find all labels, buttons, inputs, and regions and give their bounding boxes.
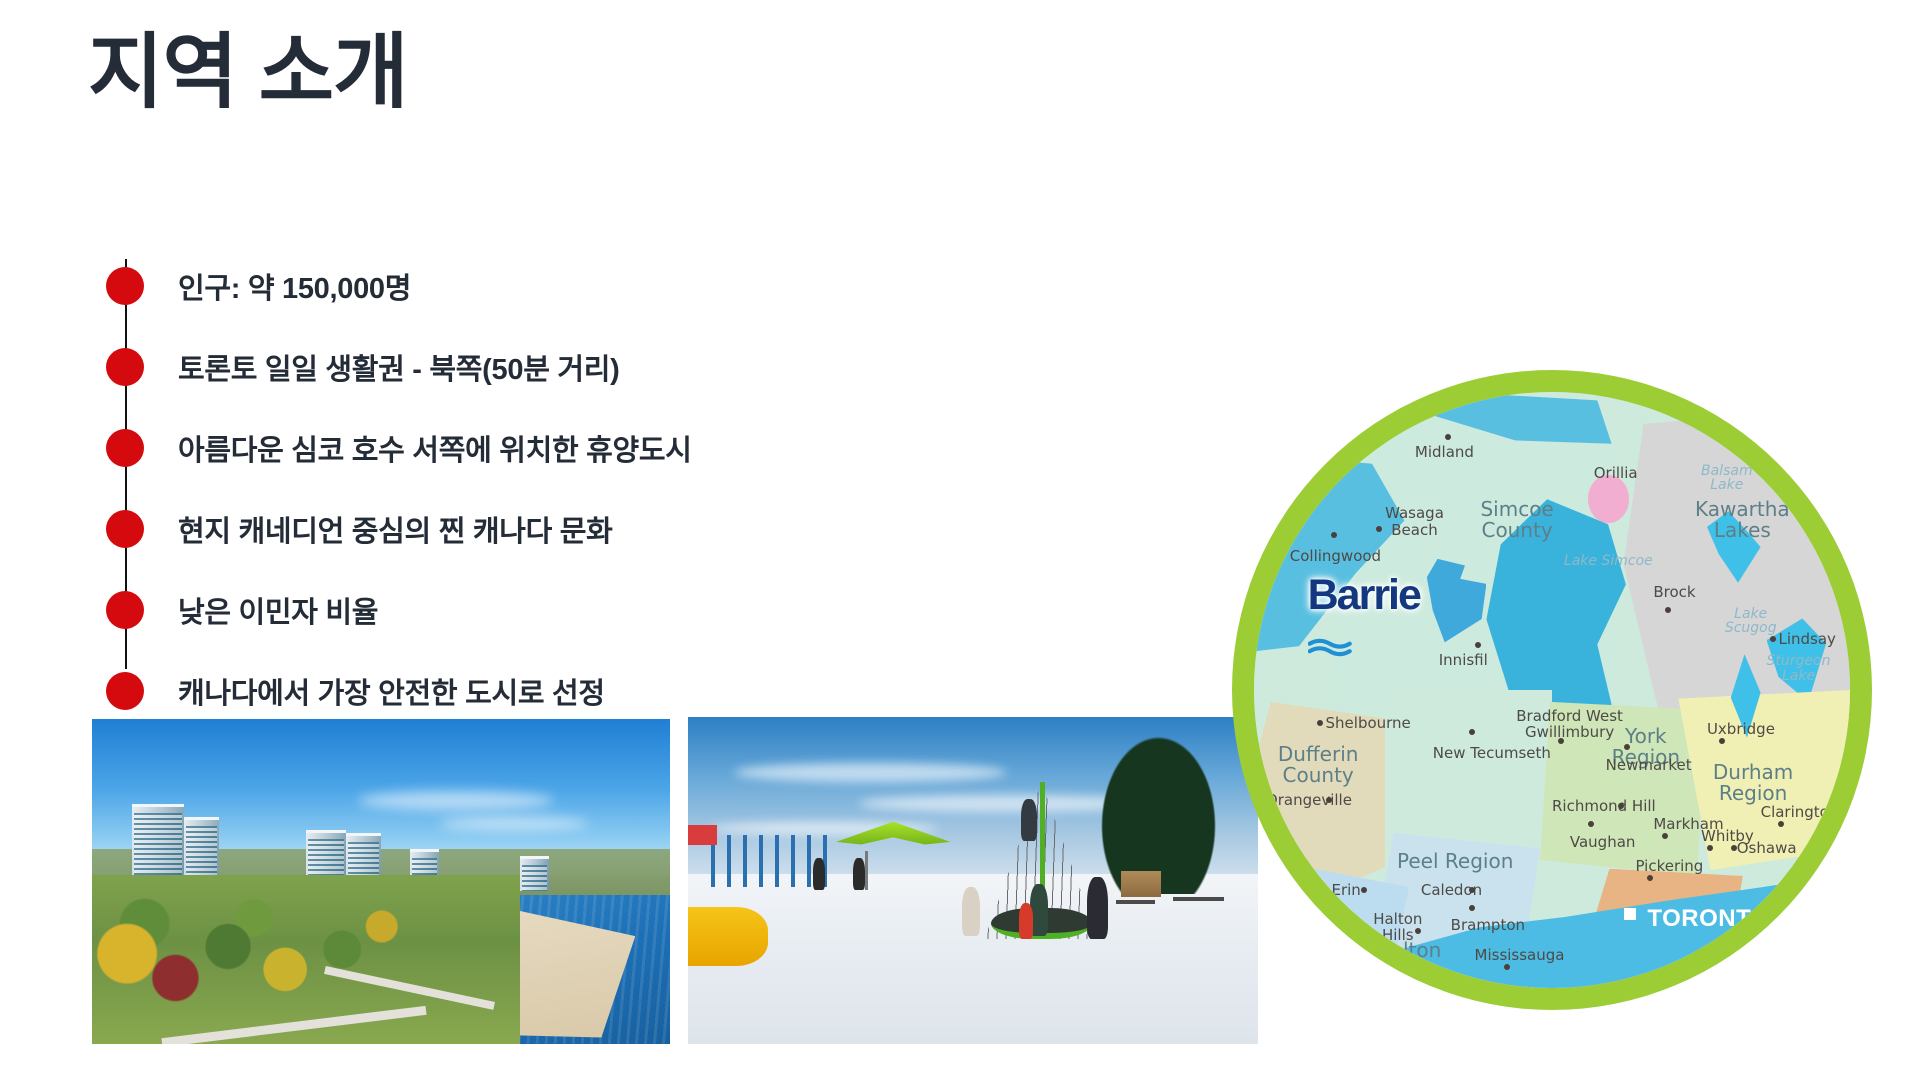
map-dot-erin — [1361, 887, 1367, 893]
photo-person — [853, 858, 864, 891]
map-dot-brampton — [1469, 905, 1475, 911]
map-label-brampton: Brampton — [1451, 916, 1525, 934]
bullet-list: 인구: 약 150,000명 토론토 일일 생활권 - 북쪽(50분 거리) 아… — [106, 245, 936, 731]
photo-bench — [1116, 900, 1156, 904]
list-item[interactable]: 아름다운 심코 호수 서쪽에 위치한 휴양도시 — [106, 407, 936, 488]
photo-shed — [1121, 871, 1161, 897]
map-label-pickering: Pickering — [1635, 857, 1703, 875]
map-label-oshawa: Oshawa — [1737, 839, 1797, 857]
bullet-label: 인구: 약 150,000명 — [178, 265, 411, 307]
map-label-clarington: Clarington — [1761, 803, 1839, 821]
map-label-simcoe-county: SimcoeCounty — [1480, 499, 1553, 541]
map-dot-caledon — [1469, 887, 1475, 893]
map-label-brock: Brock — [1653, 583, 1695, 601]
barrie-wave-icon — [1308, 633, 1391, 663]
photo-cloud — [358, 791, 555, 811]
map-label-uxbridge: Uxbridge — [1707, 720, 1775, 738]
map-label-mississauga: Mississauga — [1475, 946, 1565, 964]
bullet-dot-icon — [106, 672, 144, 710]
bullet-dot-icon — [106, 591, 144, 629]
bullet-label: 낮은 이민자 비율 — [178, 589, 378, 631]
bullet-dot-icon — [106, 510, 144, 548]
page-title: 지역 소개 — [88, 26, 408, 120]
map-label-dufferin-county: DufferinCounty — [1278, 744, 1359, 786]
list-item[interactable]: 인구: 약 150,000명 — [106, 245, 936, 326]
map-label-shelbourne: Shelbourne — [1326, 714, 1411, 732]
bullet-dot-icon — [106, 429, 144, 467]
map-dot-midland — [1445, 434, 1451, 440]
photo-bench — [1173, 897, 1224, 901]
barrie-logo: Barrie — [1308, 571, 1420, 620]
photo-person — [962, 887, 980, 936]
map-label-wasaga-beach: WasagaBeach — [1385, 505, 1444, 538]
map-label-peel-region: Peel Region — [1397, 851, 1513, 872]
map-label-vaughan: Vaughan — [1570, 833, 1636, 851]
map-label-erin: Erin — [1331, 881, 1360, 899]
map-dot-lindsay — [1770, 636, 1776, 642]
map-label-midland: Midland — [1415, 443, 1474, 461]
map-content: Midland Orillia WasagaBeach Collingwood … — [1254, 392, 1850, 988]
map-label-sturgeon-lake: SturgeonLake — [1767, 654, 1831, 683]
map-dot-innisfil — [1475, 642, 1481, 648]
photo-pine-tree — [1093, 724, 1224, 894]
map-label-toronto: TORONTO — [1647, 905, 1770, 933]
map-dot-richmond-hill — [1618, 803, 1624, 809]
photo-play-panel — [688, 825, 717, 845]
photo-climber-pole — [1040, 782, 1045, 895]
map-label-orillia: Orillia — [1594, 464, 1638, 482]
map-dot-newmarket — [1624, 744, 1630, 750]
map-toronto-marker-icon — [1624, 908, 1636, 920]
bullet-label: 아름다운 심코 호수 서쪽에 위치한 휴양도시 — [178, 427, 692, 469]
map-label-bradford-west-gwillimbury: Bradford WestGwillimbury — [1516, 708, 1623, 741]
map-label-durham-region: DurhamRegion — [1713, 762, 1793, 804]
photo-person — [1087, 877, 1108, 939]
photo-person — [1019, 903, 1034, 939]
photo-barrie-waterfront — [92, 719, 670, 1044]
map-circle[interactable]: Midland Orillia WasagaBeach Collingwood … — [1232, 370, 1872, 1010]
map-label-newmarket: Newmarket — [1606, 756, 1692, 774]
list-item[interactable]: 현지 캐네디언 중심의 찐 캐나다 문화 — [106, 488, 936, 569]
photo-person — [813, 858, 824, 891]
map-dot-bradford — [1558, 738, 1564, 744]
map-dot-new-tecumseth — [1469, 729, 1475, 735]
map-dot-shelbourne — [1317, 720, 1323, 726]
map-dot-oshawa — [1731, 845, 1737, 851]
map-dot-vaughan — [1588, 821, 1594, 827]
bullet-dot-icon — [106, 267, 144, 305]
map-label-kawartha-lakes: KawarthaLakes — [1695, 499, 1790, 541]
list-item[interactable]: 낮은 이민자 비율 — [106, 569, 936, 650]
photo-winter-playground — [688, 717, 1258, 1044]
photo-person — [1021, 799, 1037, 842]
map-dot-whitby — [1707, 845, 1713, 851]
map-label-orangeville: Orangeville — [1266, 791, 1352, 809]
photo-cloud — [439, 817, 589, 830]
map-label-balsam-lake: BalsamLake — [1701, 464, 1753, 493]
map-dot-uxbridge — [1719, 738, 1725, 744]
bullet-label: 현지 캐네디언 중심의 찐 캐나다 문화 — [178, 508, 613, 550]
map-label-richmond-hill: Richmond Hill — [1552, 797, 1656, 815]
photo-canopy-post — [865, 851, 868, 890]
map-label-lake-scugog: LakeScugog — [1725, 607, 1777, 636]
bullet-label: 캐나다에서 가장 안전한 도시로 선정 — [178, 670, 605, 712]
map-label-lindsay: Lindsay — [1778, 630, 1835, 648]
photo-yellow-slide — [688, 907, 768, 966]
map-dot-brock — [1665, 607, 1671, 613]
map-dot-orangeville — [1326, 797, 1332, 803]
list-item[interactable]: 토론토 일일 생활권 - 북쪽(50분 거리) — [106, 326, 936, 407]
bullet-dot-icon — [106, 348, 144, 386]
map-label-collingwood: Collingwood — [1290, 547, 1381, 565]
bullet-label: 토론토 일일 생활권 - 북쪽(50분 거리) — [178, 346, 619, 388]
map-label-new-tecumseth: New Tecumseth — [1433, 744, 1551, 762]
list-item[interactable]: 캐나다에서 가장 안전한 도시로 선정 — [106, 650, 936, 731]
map-label-lake-simcoe: Lake Simcoe — [1564, 553, 1653, 569]
map-label-halton: lton — [1403, 940, 1441, 961]
slide-root: 지역 소개 인구: 약 150,000명 토론토 일일 생활권 - 북쪽(50분… — [0, 0, 1920, 1080]
map-label-innisfil: Innisfil — [1439, 651, 1488, 669]
